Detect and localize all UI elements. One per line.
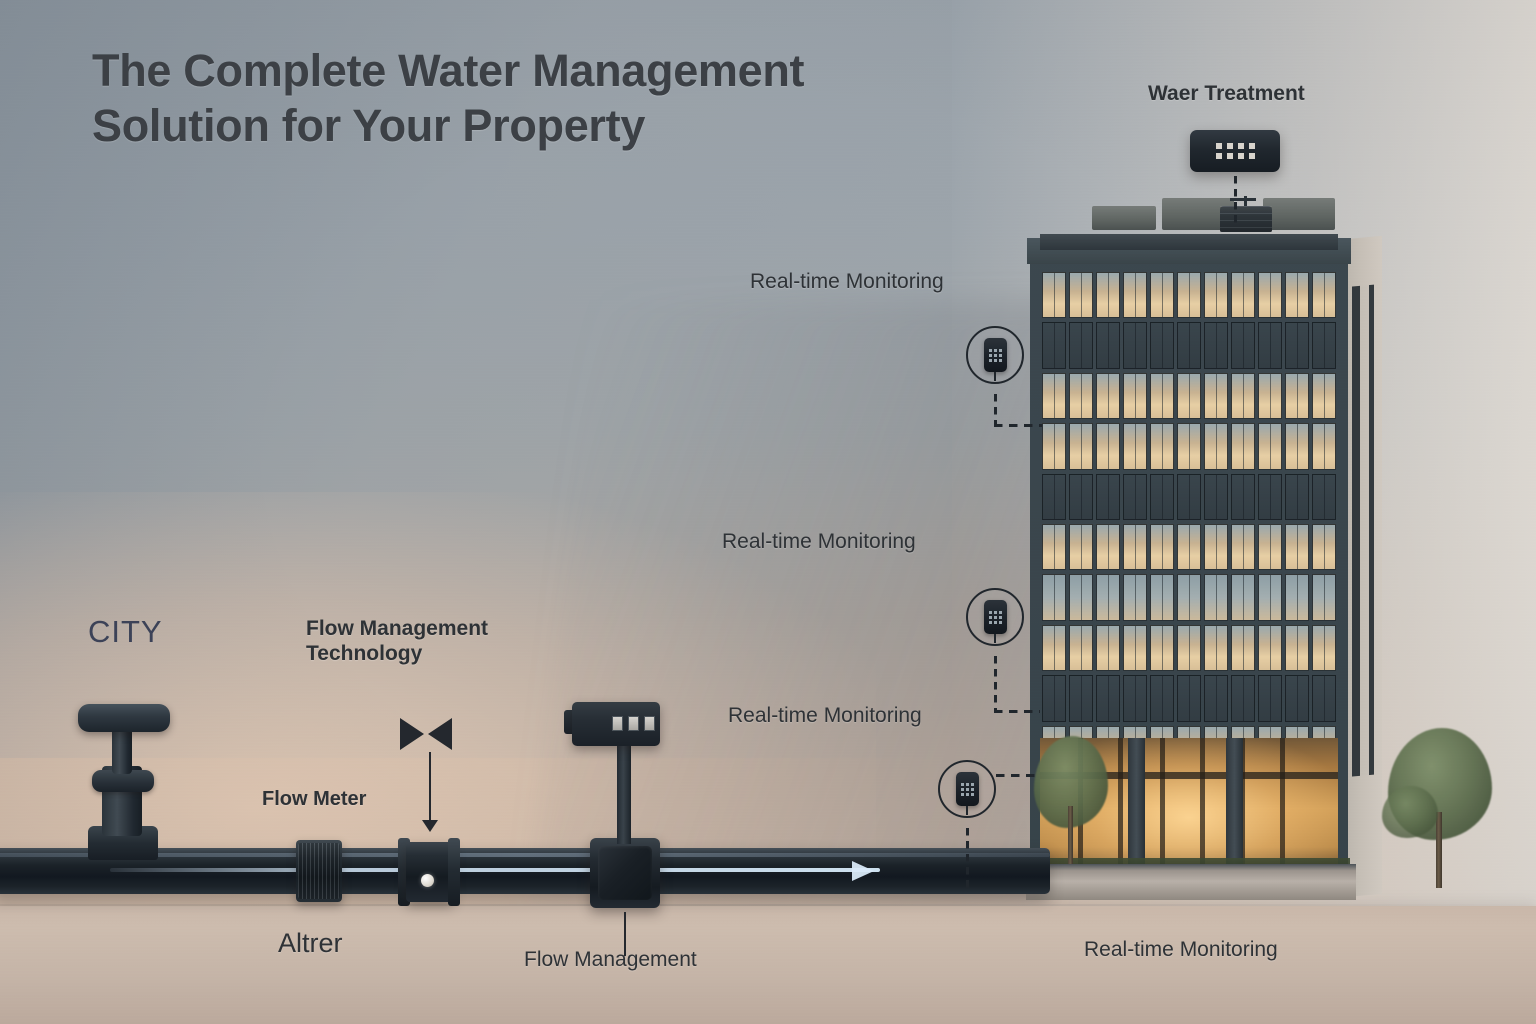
- infographic-scene: The Complete Water Management Solution f…: [0, 0, 1536, 1024]
- background-grain: [0, 0, 1536, 1024]
